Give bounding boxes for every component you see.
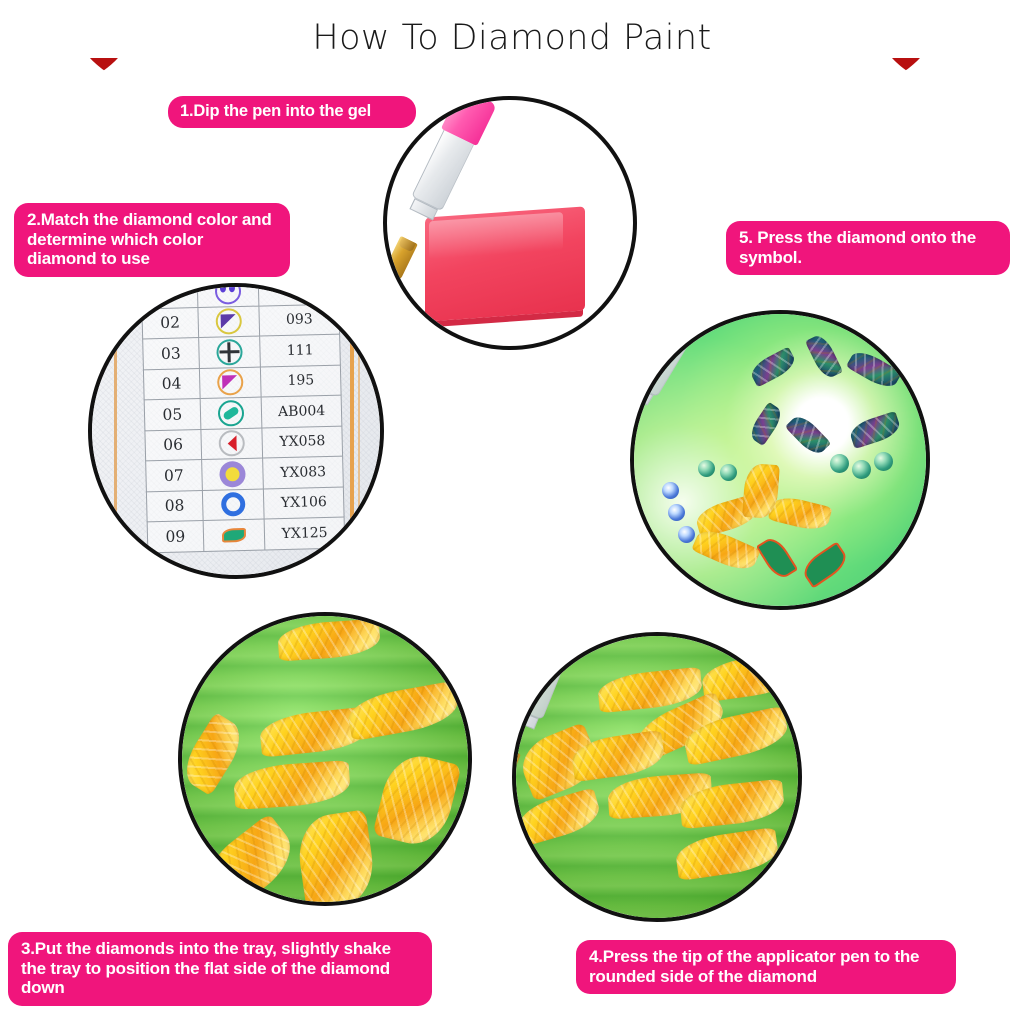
chart-row: 07YX083 (146, 456, 344, 491)
chart-symbol-plus-cross-dark (216, 339, 243, 366)
chart-cell-code: AB004 (261, 395, 341, 427)
pen-tip (387, 236, 417, 280)
chart-cell-code: YX058 (262, 426, 342, 458)
chart-symbol-chevron-left-red (218, 430, 245, 457)
chart-cell-symbol (198, 336, 260, 368)
pen-body (411, 130, 474, 211)
chart-cell-code: 195 (261, 365, 341, 397)
chart-cell-index: 02 (142, 307, 198, 339)
chart-margin-stripe-right-secondary (358, 287, 360, 575)
photo-inner-3 (182, 616, 468, 902)
gem-round (678, 526, 695, 543)
chart-cell-index: 08 (146, 490, 202, 522)
chart-symbol-triangle-magenta (217, 369, 244, 396)
photo-inner-2: 02802093031110419505AB00406YX05807YX0830… (92, 287, 380, 575)
gem-round (830, 454, 849, 473)
step-4-photo (512, 632, 802, 922)
chart-cell-symbol (201, 458, 263, 490)
chart-cell-code: YX106 (264, 487, 344, 519)
step-3-label: 3.Put the diamonds into the tray, slight… (8, 932, 432, 1006)
chart-cell-code: 093 (259, 304, 339, 336)
chart-margin-stripe-left (114, 287, 117, 575)
step-4-label: 4.Press the tip of the applicator pen to… (576, 940, 956, 994)
step-5-photo (630, 310, 930, 610)
chart-margin-stripe-right (350, 287, 354, 575)
gem-round (668, 504, 685, 521)
chart-row: 04195 (143, 365, 341, 400)
chart-cell-symbol (200, 397, 262, 429)
chart-symbol-ring-blue (220, 491, 247, 518)
chart-cell-symbol (197, 287, 259, 307)
photo-inner-1 (387, 100, 633, 346)
chart-cell-code: YX083 (263, 456, 343, 488)
gem-round (874, 452, 893, 471)
chart-cell-code: 111 (260, 334, 340, 366)
chart-cell-index (141, 287, 197, 308)
chart-symbol-leaf-teal-orange (221, 522, 248, 549)
step-2-label: 2.Match the diamond color and determine … (14, 203, 290, 277)
gem-round (852, 460, 871, 479)
chart-row: 06YX058 (145, 426, 343, 461)
chart-row: 02093 (142, 304, 340, 339)
chart-symbol-double-dot-purple-circle (215, 287, 242, 304)
chart-cell-symbol (201, 428, 263, 460)
chart-symbol-dot-yellow-purple-ring (219, 461, 246, 488)
step-1-label: 1.Dip the pen into the gel (168, 96, 416, 128)
chart-symbol-triangle-purple (215, 308, 242, 335)
chart-cell-index: 05 (144, 399, 200, 431)
chart-cell-symbol (203, 519, 265, 551)
step-5-label: 5. Press the diamond onto the symbol. (726, 221, 1010, 275)
page-title: How To Diamond Paint (0, 18, 1024, 58)
gem-round (720, 464, 737, 481)
chart-cell-code: 028 (258, 287, 338, 306)
page-title-text: How To Diamond Paint (296, 18, 727, 58)
chart-row: 08YX106 (146, 487, 344, 522)
chart-cell-index: 07 (146, 460, 202, 492)
gem-round (698, 460, 715, 477)
photo-inner-4 (516, 636, 798, 918)
chart-cell-index: 04 (143, 368, 199, 400)
gem-round (662, 482, 679, 499)
photo-inner-5 (634, 314, 926, 606)
chart-cell-symbol (198, 306, 260, 338)
chart-cell-index: 06 (145, 429, 201, 461)
color-chart-table: 02802093031110419505AB00406YX05807YX0830… (141, 287, 346, 553)
chart-row: 03111 (143, 334, 341, 369)
chart-cell-code: YX125 (264, 517, 344, 549)
step-1-photo (383, 96, 637, 350)
page-header: How To Diamond Paint (0, 0, 1024, 90)
chart-cell-index: 03 (143, 338, 199, 370)
gel-pad (425, 206, 585, 321)
chart-row: 05AB004 (144, 395, 342, 430)
step-3-photo (178, 612, 472, 906)
chart-cell-index: 09 (147, 521, 203, 553)
step-2-photo: 02802093031110419505AB00406YX05807YX0830… (88, 283, 384, 579)
chart-cell-symbol (199, 367, 261, 399)
chart-cell-symbol (202, 489, 264, 521)
chart-row: 09YX125 (147, 517, 345, 552)
chart-symbol-pill-teal (218, 400, 245, 427)
